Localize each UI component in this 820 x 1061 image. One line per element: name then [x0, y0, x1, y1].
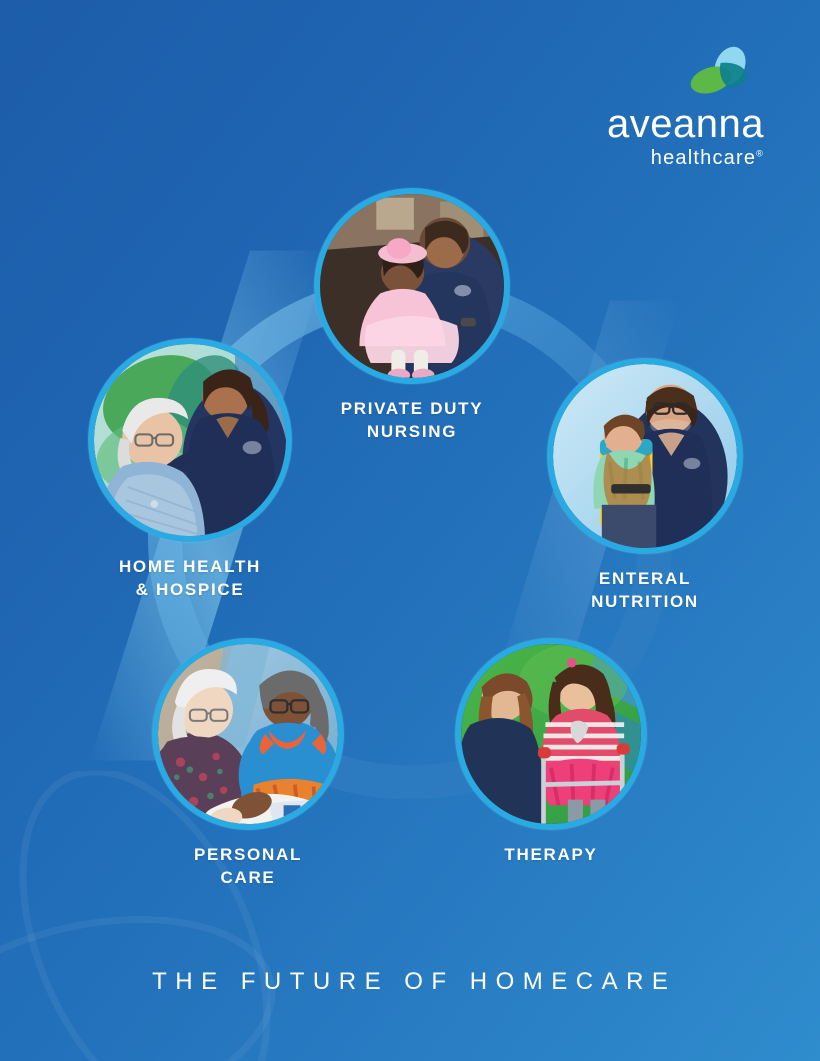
poster-canvas: aveanna healthcare®	[0, 0, 820, 1061]
service-label-personal-care: PERSONAL CARE	[152, 844, 344, 890]
service-photo-therapy	[455, 638, 647, 830]
service-therapy[interactable]: THERAPY	[455, 638, 647, 867]
tagline: THE FUTURE OF HOMECARE	[0, 968, 820, 996]
brand-subtitle: healthcare®	[572, 148, 764, 168]
service-photo-private-duty-nursing	[314, 188, 510, 384]
brand-name: aveanna	[572, 104, 764, 144]
brand-logo: aveanna healthcare®	[572, 46, 764, 168]
service-label-enteral-nutrition: ENTERAL NUTRITION	[547, 568, 743, 614]
service-label-private-duty-nursing: PRIVATE DUTY NURSING	[314, 398, 510, 444]
service-photo-personal-care	[152, 638, 344, 830]
service-label-therapy: THERAPY	[455, 844, 647, 867]
service-enteral-nutrition[interactable]: ENTERAL NUTRITION	[547, 358, 743, 614]
service-photo-home-health-and-hospice	[88, 338, 292, 542]
service-personal-care[interactable]: PERSONAL CARE	[152, 638, 344, 890]
registered-mark: ®	[756, 148, 764, 158]
brand-subtitle-text: healthcare	[651, 147, 756, 169]
service-photo-enteral-nutrition	[547, 358, 743, 554]
service-label-home-health-and-hospice: HOME HEALTH & HOSPICE	[88, 556, 292, 602]
aveanna-butterfly-mark-icon	[684, 46, 758, 100]
service-private-duty-nursing[interactable]: PRIVATE DUTY NURSING	[314, 188, 510, 444]
service-home-health-and-hospice[interactable]: HOME HEALTH & HOSPICE	[88, 338, 292, 602]
